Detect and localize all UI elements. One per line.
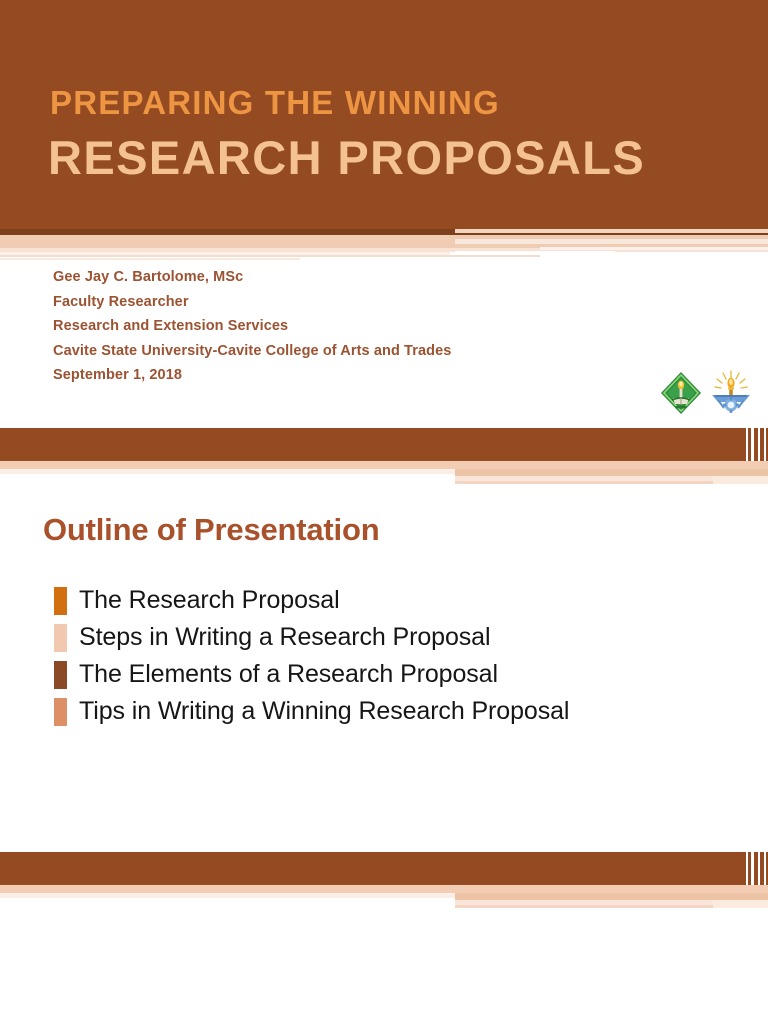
bullet-square-icon	[54, 587, 67, 615]
outline-item-label: The Research Proposal	[79, 588, 340, 613]
under-stripe-5	[455, 905, 713, 908]
bullet-square-icon	[54, 624, 67, 652]
presentation-date: September 1, 2018	[53, 363, 613, 388]
presenter-name: Gee Jay C. Bartolome, MSc	[53, 265, 613, 290]
middle-brown-band	[0, 428, 768, 461]
stripe-right-accent-2	[455, 239, 768, 244]
list-item[interactable]: Steps in Writing a Research Proposal	[54, 619, 714, 656]
outline-section-heading: Outline of Presentation	[43, 512, 379, 548]
band-notch-2	[751, 852, 754, 885]
under-stripe-6	[0, 474, 455, 478]
stripe-fade-3	[0, 255, 540, 257]
presentation-slide-page: PREPARING THE WINNING RESEARCH PROPOSALS…	[0, 0, 768, 1024]
outline-item-label: The Elements of a Research Proposal	[79, 662, 498, 687]
under-stripe-7	[713, 476, 768, 484]
presenter-role: Faculty Researcher	[53, 290, 613, 315]
under-stripe-5	[455, 481, 713, 484]
list-item[interactable]: Tips in Writing a Winning Research Propo…	[54, 693, 714, 730]
middle-band-under-stripes	[0, 461, 768, 491]
under-stripe-6	[0, 898, 455, 902]
header-decorative-stripes	[0, 229, 768, 269]
bottom-brown-band	[0, 852, 768, 885]
band-notch-4	[764, 852, 766, 885]
stripe-right-accent-1	[455, 229, 768, 233]
under-stripe-1	[0, 885, 768, 893]
stripe-right-accent-3	[540, 247, 768, 250]
band-notch-2	[751, 428, 754, 461]
band-notch-1	[746, 428, 748, 461]
outline-list: The Research Proposal Steps in Writing a…	[54, 582, 714, 730]
outline-item-label: Steps in Writing a Research Proposal	[79, 625, 490, 650]
band-notch-4	[764, 428, 766, 461]
bottom-band-under-stripes	[0, 885, 768, 915]
title-header-band: PREPARING THE WINNING RESEARCH PROPOSALS	[0, 0, 768, 229]
band-notch-3	[758, 428, 760, 461]
under-stripe-7	[713, 900, 768, 908]
stripe-right-accent-4	[455, 251, 615, 254]
ccat-emblem-logo-icon	[706, 369, 756, 417]
logo-row	[658, 369, 760, 419]
stripe-fade-4	[0, 258, 300, 260]
list-item[interactable]: The Elements of a Research Proposal	[54, 656, 714, 693]
list-item[interactable]: The Research Proposal	[54, 582, 714, 619]
presenter-institution: Cavite State University-Cavite College o…	[53, 339, 613, 364]
cvsu-seal-logo-icon	[658, 369, 704, 417]
presentation-title-line-1: PREPARING THE WINNING	[50, 86, 500, 119]
band-notch-3	[758, 852, 760, 885]
under-stripe-1	[0, 461, 768, 469]
presenter-info-block: Gee Jay C. Bartolome, MSc Faculty Resear…	[53, 265, 613, 388]
bullet-square-icon	[54, 661, 67, 689]
presentation-title-line-2: RESEARCH PROPOSALS	[48, 134, 645, 181]
outline-item-label: Tips in Writing a Winning Research Propo…	[79, 699, 569, 724]
presenter-office: Research and Extension Services	[53, 314, 613, 339]
under-stripe-3	[455, 893, 768, 900]
bullet-square-icon	[54, 698, 67, 726]
under-stripe-3	[455, 469, 768, 476]
band-notch-1	[746, 852, 748, 885]
